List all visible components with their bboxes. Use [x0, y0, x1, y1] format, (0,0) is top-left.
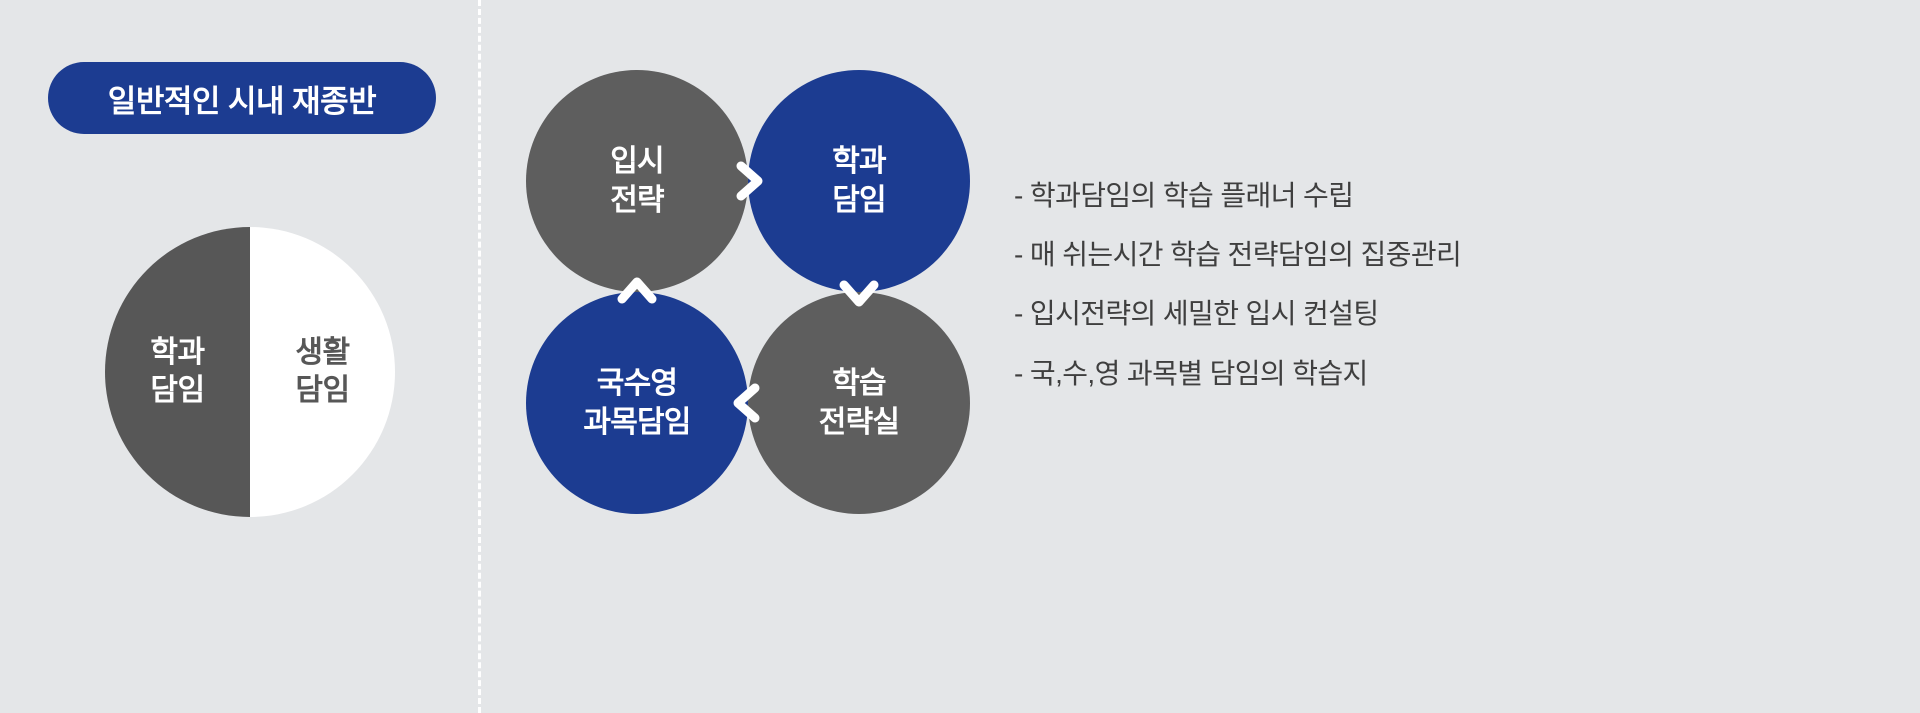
cycle-node-haksup-jeonryaksil: 학습 전략실 [748, 292, 970, 514]
cycle-node-ipsi-jeonryak-line1: 입시 [610, 142, 664, 181]
bullet-item: - 학과담임의 학습 플래너 수립 [1014, 180, 1654, 212]
cycle-node-haksup-line1: 학습 [832, 364, 886, 403]
half-circle-left-line2: 담임 [150, 372, 204, 410]
bullet-item: - 매 쉬는시간 학습 전략담임의 집중관리 [1014, 239, 1654, 271]
chevron-right-icon [725, 158, 771, 204]
cycle-node-hakgwa-damim-line2: 담임 [832, 181, 886, 220]
cycle-node-ipsi-jeonryak: 입시 전략 [526, 70, 748, 292]
cycle-node-guksuyeong-line1: 국수영 [597, 364, 677, 403]
cycle-node-guksuyeong-line2: 과목담임 [583, 403, 690, 442]
half-circle-right-segment: 생활 담임 [250, 227, 395, 517]
bullet-item: - 국,수,영 과목별 담임의 학습지 [1014, 358, 1654, 390]
feature-bullet-list: - 학과담임의 학습 플래너 수립 - 매 쉬는시간 학습 전략담임의 집중관리… [1014, 180, 1654, 390]
cycle-diagram: 입시 전략 학과 담임 국수영 과목담임 학습 전략실 [526, 70, 976, 520]
cycle-node-guksuyeong-gwamokdamim: 국수영 과목담임 [526, 292, 748, 514]
half-circle-left-line1: 학과 [150, 334, 204, 372]
slide-canvas: 일반적인 시내 재종반 학과 담임 생활 담임 입시 전략 학과 담임 국수영 … [0, 0, 1920, 713]
section-badge-general-class: 일반적인 시내 재종반 [48, 62, 436, 134]
cycle-node-haksup-line2: 전략실 [819, 403, 899, 442]
half-circle-left-segment: 학과 담임 [105, 227, 250, 517]
half-circle-right-line2: 담임 [295, 372, 349, 410]
bullet-item: - 입시전략의 세밀한 입시 컨설팅 [1014, 298, 1654, 330]
cycle-node-ipsi-jeonryak-line2: 전략 [610, 181, 664, 220]
chevron-down-icon [836, 269, 882, 315]
half-circle-diagram: 학과 담임 생활 담임 [105, 227, 395, 517]
vertical-dashed-divider [478, 0, 481, 713]
badge-label: 일반적인 시내 재종반 [108, 76, 376, 121]
chevron-left-icon [725, 380, 771, 426]
cycle-node-hakgwa-damim: 학과 담임 [748, 70, 970, 292]
half-circle-right-line1: 생활 [295, 334, 349, 372]
cycle-node-hakgwa-damim-line1: 학과 [832, 142, 886, 181]
chevron-up-icon [614, 269, 660, 315]
